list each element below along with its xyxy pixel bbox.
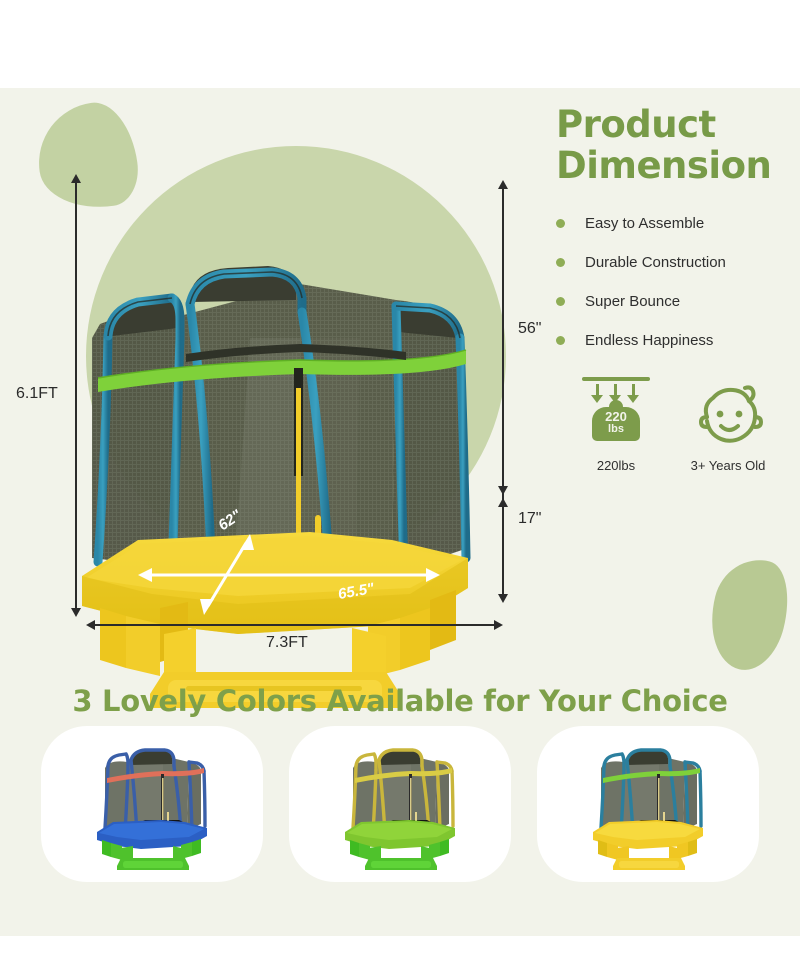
- dimension-label-overall-width: 7.3FT: [266, 634, 308, 652]
- trampoline-thumbnail-green: [325, 738, 475, 870]
- spec-badge-age-label: 3+ Years Old: [672, 458, 784, 473]
- feature-item: Durable Construction: [556, 254, 800, 271]
- spec-badges: 220 lbs 220lbs: [560, 375, 800, 473]
- trampoline-illustration: [0, 88, 556, 708]
- weight-unit: lbs: [592, 424, 640, 435]
- page-title-line2: Dimension: [556, 145, 800, 186]
- bullet-icon: [556, 258, 565, 267]
- spec-badge-weight-label: 220lbs: [560, 458, 672, 473]
- dimension-line-overall-height: [75, 182, 77, 610]
- colors-section-heading: 3 Lovely Colors Available for Your Choic…: [0, 684, 800, 718]
- bullet-icon: [556, 297, 565, 306]
- badge-art: 220 lbs: [560, 375, 672, 449]
- color-variant-card-green[interactable]: [289, 726, 511, 882]
- trampoline-thumbnail-blue: [77, 738, 227, 870]
- arrow-head-down: [71, 608, 81, 617]
- color-variant-card-yellow[interactable]: [537, 726, 759, 882]
- spec-badge-weight: 220 lbs 220lbs: [560, 375, 672, 473]
- feature-item: Easy to Assemble: [556, 215, 800, 232]
- baby-eye-left: [717, 410, 724, 417]
- bullet-icon: [556, 219, 565, 228]
- weight-value: 220: [592, 410, 640, 423]
- feature-label: Durable Construction: [585, 254, 726, 271]
- feature-list: Easy to Assemble Durable Construction Su…: [556, 215, 800, 349]
- color-variant-cards: [0, 726, 800, 882]
- feature-item: Endless Happiness: [556, 332, 800, 349]
- product-infographic: 62" 65.5" 6.1FT 56" 17" 7.3FT: [0, 0, 800, 977]
- decorative-blob-bottom-right: [700, 551, 799, 678]
- arrow-head-up: [71, 174, 81, 183]
- badge-art: [672, 375, 784, 449]
- dimension-line-overall-width: [94, 624, 498, 626]
- down-arrow-head: [591, 395, 603, 403]
- feature-label: Super Bounce: [585, 293, 680, 310]
- arrow-head-up: [498, 180, 508, 189]
- page-title: Product Dimension: [556, 104, 800, 187]
- dimension-label-enclosure-height: 56": [518, 320, 541, 338]
- feature-item: Super Bounce: [556, 293, 800, 310]
- weight-capacity-icon: 220 lbs: [578, 375, 654, 449]
- arrow-head-down: [498, 486, 508, 495]
- main-panel: 62" 65.5" 6.1FT 56" 17" 7.3FT: [0, 88, 800, 936]
- color-variant-card-blue[interactable]: [41, 726, 263, 882]
- dimension-label-frame-height: 17": [518, 510, 541, 528]
- dimension-line-frame-height: [502, 506, 504, 598]
- arrow-head-down: [498, 594, 508, 603]
- product-info-column: Product Dimension Easy to Assemble Durab…: [556, 104, 800, 473]
- spec-badge-age: 3+ Years Old: [672, 375, 784, 473]
- baby-face-icon: [693, 383, 763, 449]
- arrow-head-left: [86, 620, 95, 630]
- baby-eye-right: [736, 410, 743, 417]
- trampoline-thumbnail-yellow: [573, 738, 723, 870]
- feature-label: Easy to Assemble: [585, 215, 704, 232]
- weight-bar: [582, 377, 650, 381]
- bullet-icon: [556, 336, 565, 345]
- dimension-label-overall-height: 6.1FT: [16, 385, 58, 403]
- arrow-head-right: [494, 620, 503, 630]
- product-illustration-area: 62" 65.5" 6.1FT 56" 17" 7.3FT: [0, 88, 556, 708]
- feature-label: Endless Happiness: [585, 332, 713, 349]
- page-title-line1: Product: [556, 104, 800, 145]
- down-arrow-head: [627, 395, 639, 403]
